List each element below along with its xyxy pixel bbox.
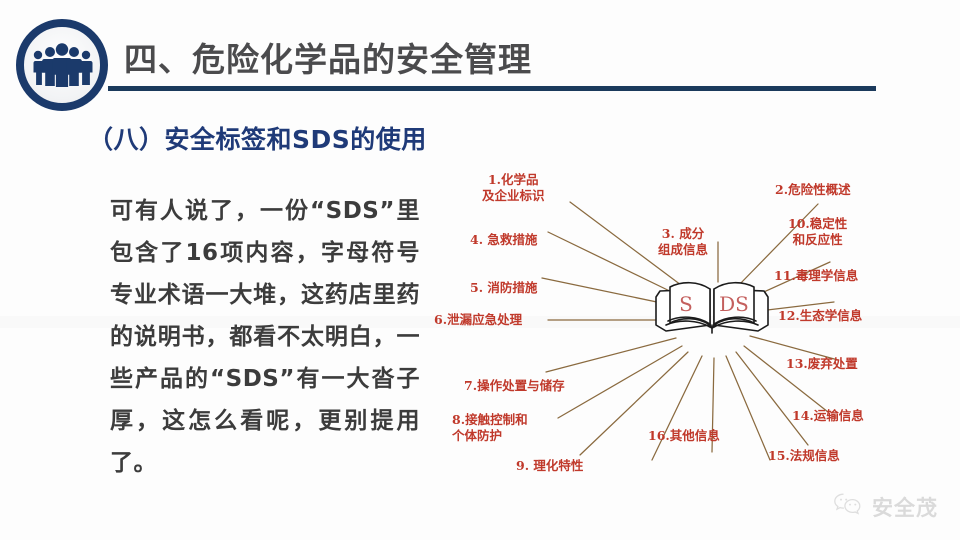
book-right-letter: DS (719, 292, 749, 316)
sds-radial-diagram: S DS 1.化学品 及企业标识 2.危险性概述 3. 成分 组成信息 4. 急… (430, 160, 960, 490)
watermark-text: 安全茂 (872, 492, 938, 522)
page-title: 四、危险化学品的安全管理 (124, 33, 532, 81)
diagram-label-9: 9. 理化特性 (516, 458, 583, 474)
diagram-label-1: 1.化学品 及企业标识 (482, 172, 545, 204)
diagram-label-3: 3. 成分 组成信息 (658, 226, 708, 258)
title-divider (108, 86, 876, 91)
diagram-label-10: 10.稳定性 和反应性 (788, 216, 847, 248)
diagram-label-12: 12.生态学信息 (778, 308, 862, 324)
diagram-label-14: 14.运输信息 (792, 408, 864, 424)
book-left-letter: S (679, 292, 693, 316)
people-group-icon (16, 19, 108, 111)
diagram-label-13: 13.废弃处置 (786, 356, 858, 372)
diagram-label-11: 11.毒理学信息 (774, 268, 858, 284)
diagram-label-5: 5. 消防措施 (470, 280, 537, 296)
diagram-label-15: 15.法规信息 (768, 448, 840, 464)
body-paragraph: 可有人说了，一份“SDS”里包含了16项内容，字母符号专业术语一大堆，这药店里药… (110, 190, 420, 484)
diagram-label-7: 7.操作处置与储存 (464, 378, 565, 394)
diagram-label-2: 2.危险性概述 (775, 182, 851, 198)
wechat-icon (833, 492, 863, 522)
diagram-label-16: 16.其他信息 (648, 428, 720, 444)
watermark: 安全茂 (833, 492, 938, 522)
section-subtitle: （八）安全标签和SDS的使用 (88, 120, 427, 156)
diagram-label-8: 8.接触控制和 个体防护 (452, 412, 528, 444)
open-book-icon: S DS (652, 275, 772, 337)
slide-canvas: 四、危险化学品的安全管理 （八）安全标签和SDS的使用 可有人说了，一份“SDS… (0, 0, 960, 540)
diagram-label-6: 6.泄漏应急处理 (434, 312, 522, 328)
diagram-label-4: 4. 急救措施 (470, 232, 537, 248)
